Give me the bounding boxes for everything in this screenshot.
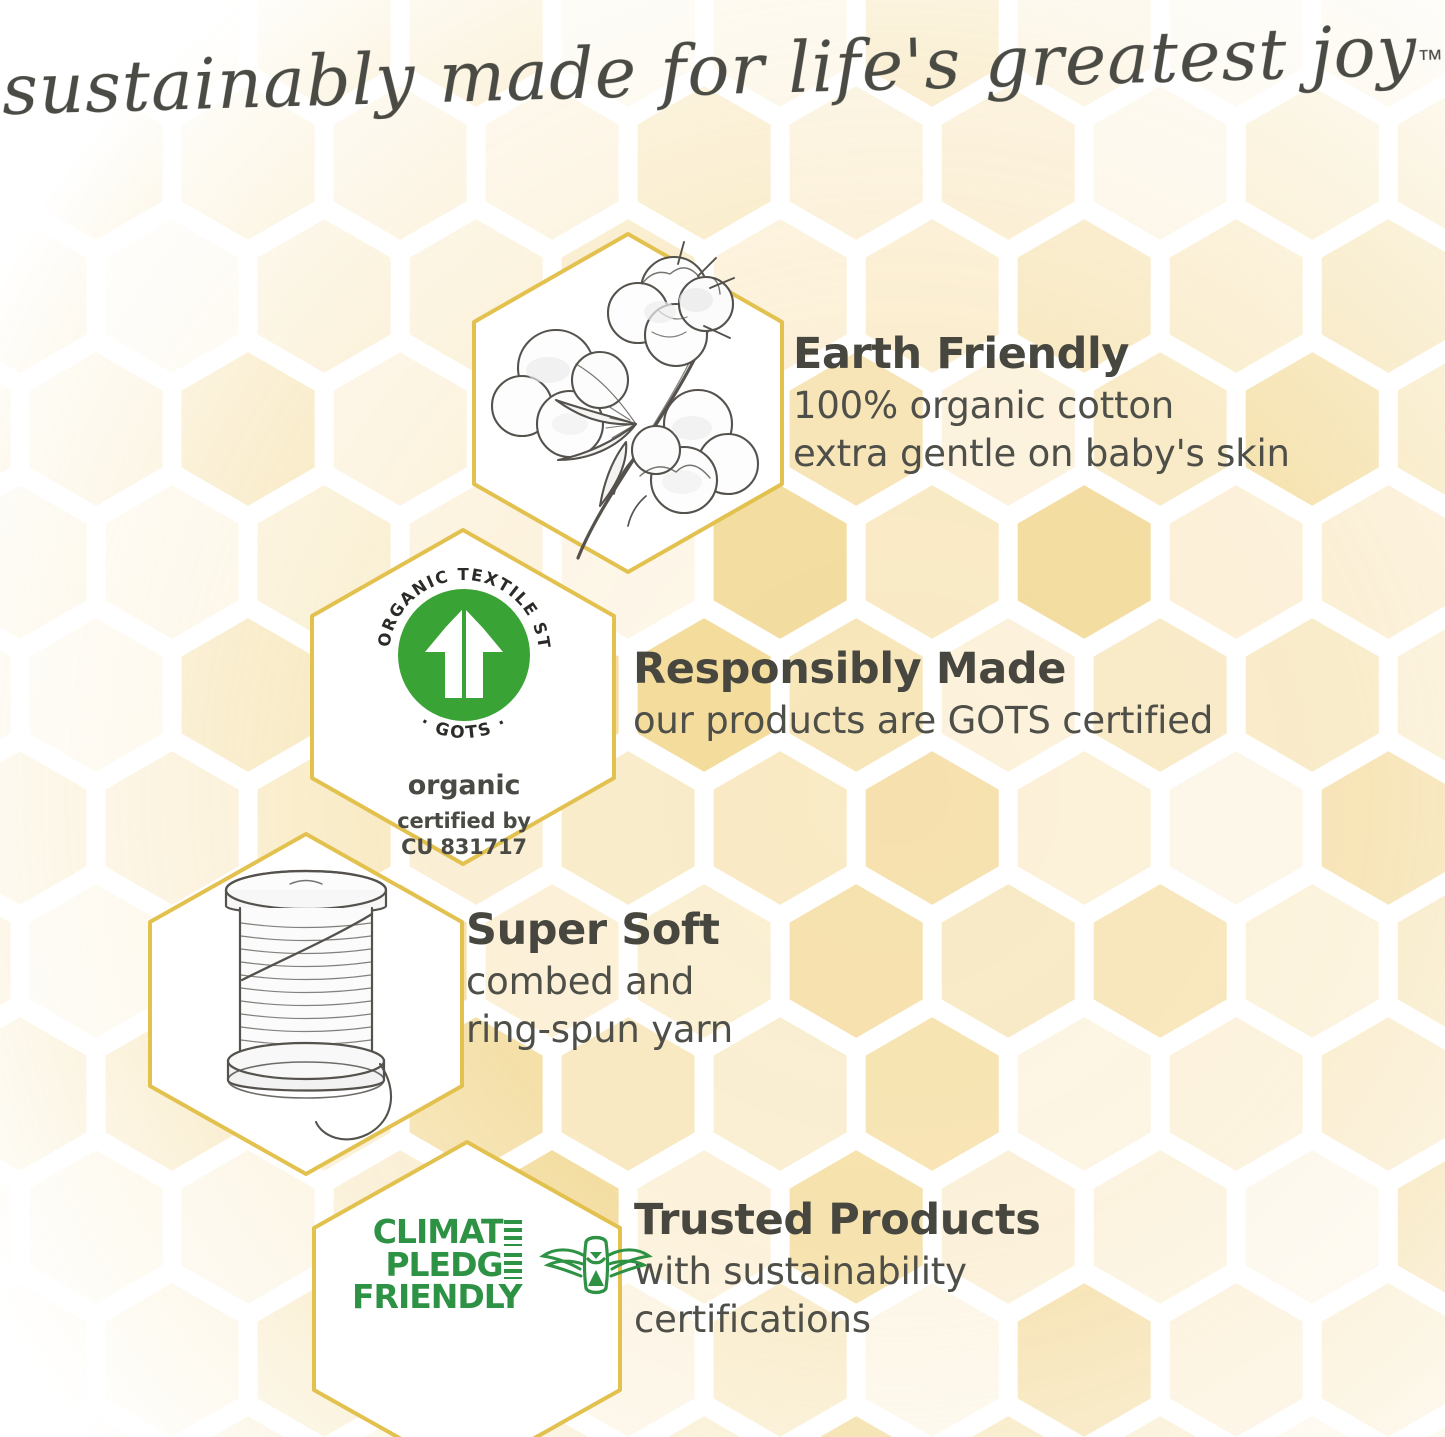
feature-line: certifications	[634, 1296, 1040, 1343]
feature-title: Super Soft	[466, 906, 733, 954]
feature-line: ring-spun yarn	[466, 1006, 733, 1053]
trademark-symbol: ™	[1417, 44, 1444, 75]
feature-line: 100% organic cotton	[793, 382, 1290, 429]
feature-line: our products are GOTS certified	[633, 697, 1213, 744]
infographic-canvas: sustainably made for life's greatest joy…	[0, 0, 1445, 1437]
gots-certification-icon: GLOBAL ORGANIC TEXTILE STANDARD · GOTS ·	[359, 550, 569, 760]
feature-text-super-soft: Super Soft combed and ring-spun yarn	[466, 906, 733, 1053]
feature-line: extra gentle on baby's skin	[793, 430, 1290, 477]
feature-title: Earth Friendly	[793, 330, 1290, 378]
feature-text-trusted-products: Trusted Products with sustainability cer…	[634, 1196, 1040, 1343]
gots-organic-label: organic	[334, 770, 594, 801]
feature-text-responsibly-made: Responsibly Made our products are GOTS c…	[633, 645, 1213, 745]
feature-title: Responsibly Made	[633, 645, 1213, 693]
cpf-bars-icon	[504, 1253, 522, 1279]
cpf-line-3: FRIENDLY	[352, 1277, 522, 1316]
feature-line: with sustainability	[634, 1248, 1040, 1295]
feature-title: Trusted Products	[634, 1196, 1040, 1244]
cpf-bars-icon	[504, 1220, 522, 1246]
hex-card-super-soft	[136, 828, 476, 1180]
feature-line: combed and	[466, 958, 733, 1005]
gots-certification-block: GLOBAL ORGANIC TEXTILE STANDARD · GOTS ·…	[334, 550, 594, 861]
winged-hourglass-icon	[538, 1226, 654, 1304]
feature-text-earth-friendly: Earth Friendly 100% organic cotton extra…	[793, 330, 1290, 477]
gots-certified-by-label: certified by	[334, 808, 594, 834]
climate-pledge-wordmark: CLIMAT PLEDG FRIENDLY	[352, 1216, 522, 1314]
climate-pledge-friendly-block: CLIMAT PLEDG FRIENDLY	[352, 1216, 654, 1314]
gots-certifier-code: CU 831717	[334, 834, 594, 860]
